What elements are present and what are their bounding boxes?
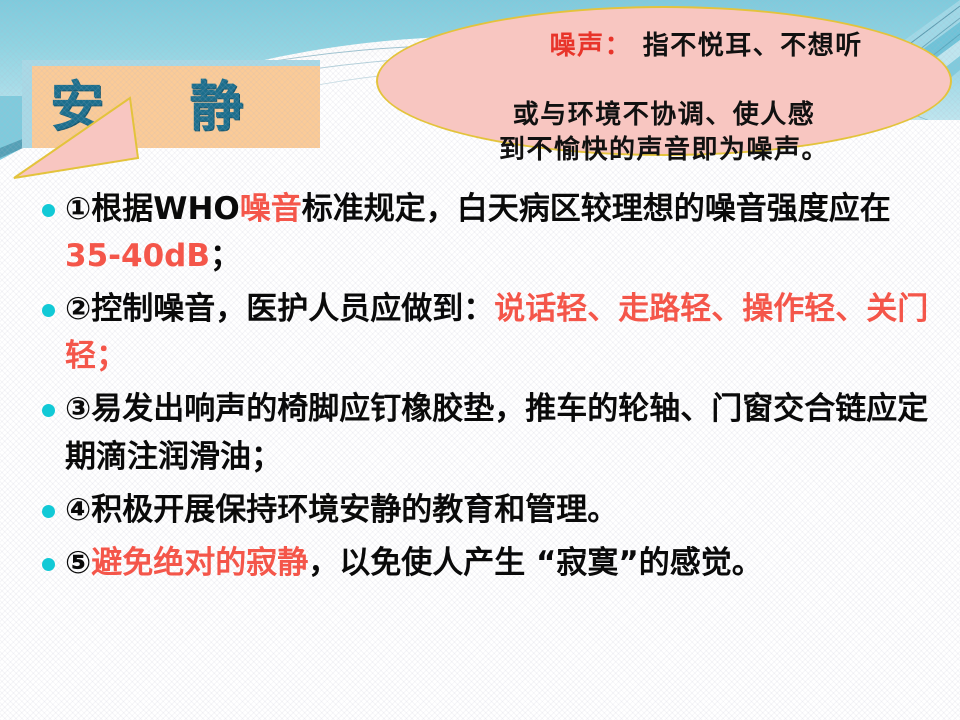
bullet-text-1: ①根据WHO噪音标准规定，白天病区较理想的噪音强度应在35-40dB；: [65, 186, 960, 280]
bullet-2-seg-0: ②控制噪音，医护人员应做到：: [65, 291, 494, 327]
callout-container: 噪声： 指不悦耳、不想听 或与环境不协调、使人感 到不愉快的声音即为噪声。: [376, 6, 952, 186]
bullet-1-seg-4: ；: [210, 238, 241, 274]
bullet-dot-icon: [42, 404, 55, 417]
slide-canvas: 安 静 噪声： 指不悦耳、不想听 或与环境不协调、使人感 到不愉快的声音即为噪声…: [0, 0, 960, 720]
bullet-5-seg-1: 避免绝对的寂静: [91, 545, 308, 581]
callout-keyword: 噪声：: [550, 31, 633, 61]
bullet-dot-icon: [42, 505, 55, 518]
list-item: ②控制噪音，医护人员应做到：说话轻、走路轻、操作轻、关门轻；: [0, 286, 960, 380]
bullet-5-seg-2: ，以免使人产生 “寂寞”的感觉。: [308, 545, 763, 581]
bullet-1-seg-1: 噪音: [240, 191, 302, 227]
bullet-5-seg-0: ⑤: [65, 545, 91, 581]
bullet-text-5: ⑤避免绝对的寂静，以免使人产生 “寂寞”的感觉。: [65, 540, 960, 587]
list-item: ①根据WHO噪音标准规定，白天病区较理想的噪音强度应在35-40dB；: [0, 186, 960, 280]
bullet-dot-icon: [42, 304, 55, 317]
callout-line-1-text: 指不悦耳、不想听: [632, 31, 863, 61]
bullet-text-3: ③易发出响声的椅脚应钉橡胶垫，推车的轮轴、门窗交合链应定期滴注润滑油；: [65, 386, 960, 480]
callout-line-2: 或与环境不协调、使人感: [513, 98, 816, 133]
callout-line-3: 到不愉快的声音即为噪声。: [499, 133, 829, 168]
bullet-dot-icon: [42, 204, 55, 217]
callout-tail: [12, 96, 142, 180]
list-item: ③易发出响声的椅脚应钉橡胶垫，推车的轮轴、门窗交合链应定期滴注润滑油；: [0, 386, 960, 480]
bullet-dot-icon: [42, 558, 55, 571]
callout-line-1: 噪声： 指不悦耳、不想听: [465, 0, 863, 98]
bullet-1-seg-0: ①根据WHO: [65, 191, 240, 227]
list-item: ⑤避免绝对的寂静，以免使人产生 “寂寞”的感觉。: [0, 540, 960, 587]
bullet-list: ①根据WHO噪音标准规定，白天病区较理想的噪音强度应在35-40dB； ②控制噪…: [0, 186, 960, 720]
list-item: ④积极开展保持环境安静的教育和管理。: [0, 487, 960, 534]
bullet-1-seg-3: 35-40dB: [65, 238, 210, 274]
bullet-text-4: ④积极开展保持环境安静的教育和管理。: [65, 487, 960, 534]
noise-definition-bubble: 噪声： 指不悦耳、不想听 或与环境不协调、使人感 到不愉快的声音即为噪声。: [376, 6, 952, 156]
bullet-1-seg-2: 标准规定，白天病区较理想的噪音强度应在: [302, 191, 891, 227]
bullet-text-2: ②控制噪音，医护人员应做到：说话轻、走路轻、操作轻、关门轻；: [65, 286, 960, 380]
